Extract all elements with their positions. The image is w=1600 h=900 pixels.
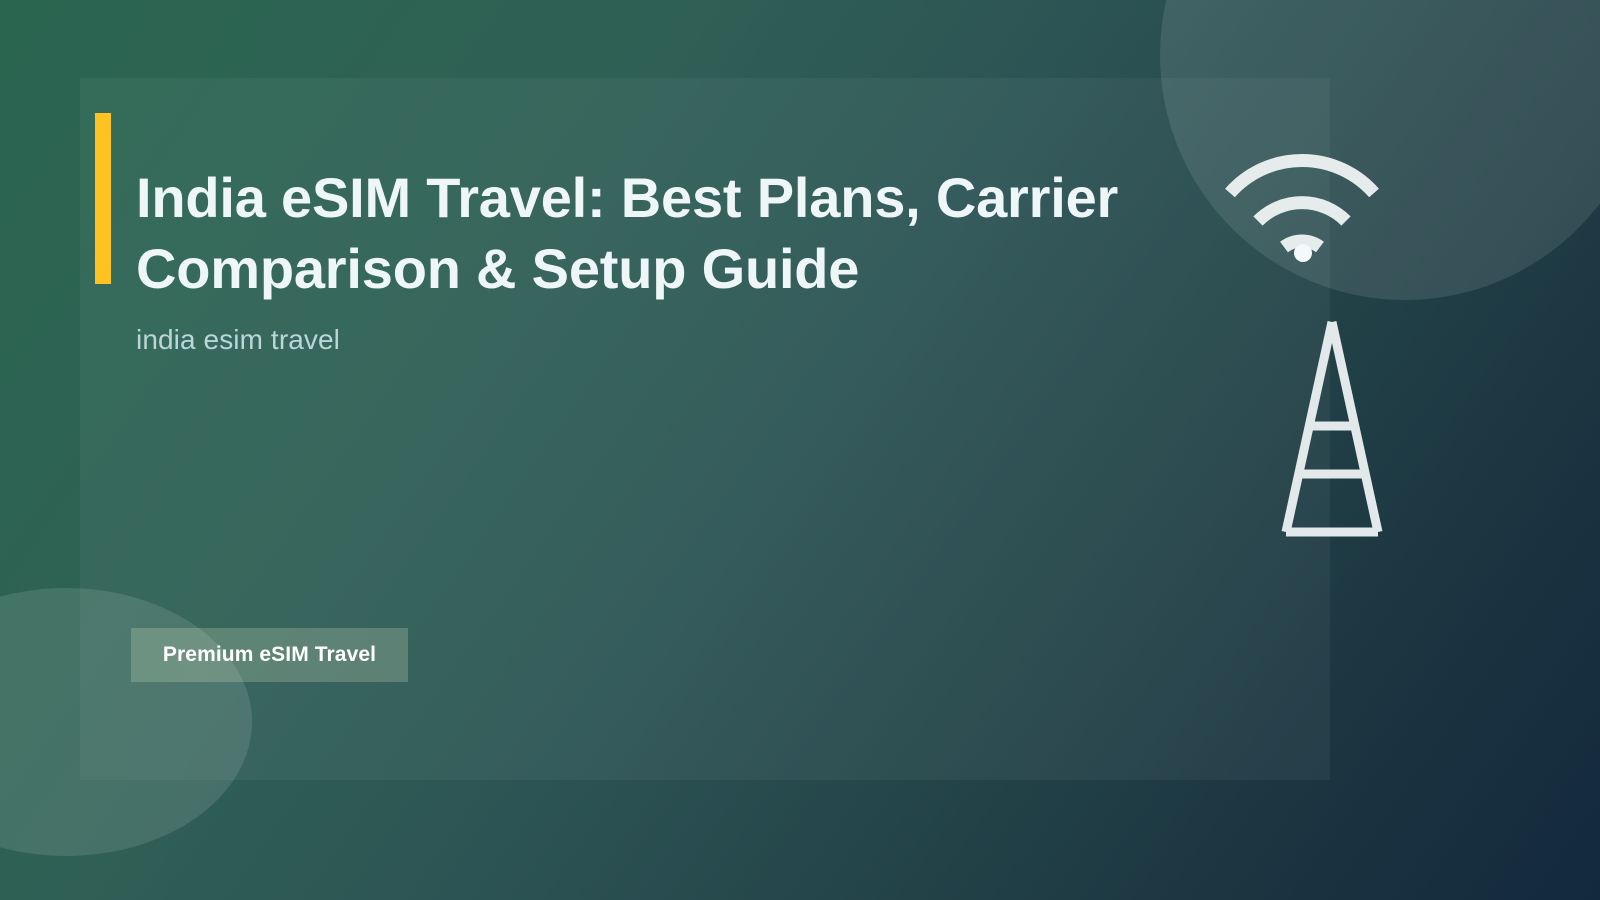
slide-canvas: India eSIM Travel: Best Plans, Carrier C… xyxy=(0,0,1600,900)
page-subtitle: india esim travel xyxy=(136,324,1206,356)
cell-tower-icon xyxy=(1272,318,1392,540)
accent-bar xyxy=(95,113,111,284)
status-badge: Premium eSIM Travel xyxy=(131,628,408,682)
status-badge-label: Premium eSIM Travel xyxy=(163,643,376,667)
page-title: India eSIM Travel: Best Plans, Carrier C… xyxy=(136,163,1206,304)
title-block: India eSIM Travel: Best Plans, Carrier C… xyxy=(136,163,1206,356)
wifi-signal-icon xyxy=(1218,143,1398,263)
